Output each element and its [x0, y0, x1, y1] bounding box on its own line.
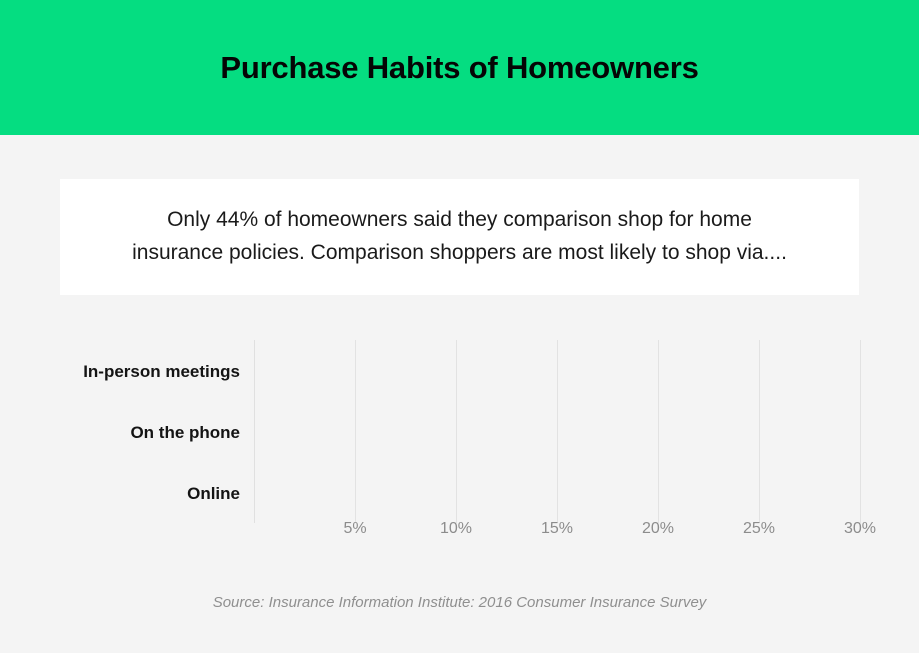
gridline-20	[658, 340, 659, 523]
gridline-25	[759, 340, 760, 523]
bar-chart: In-person meetings On the phone Online 5…	[0, 330, 919, 550]
y-axis-line	[254, 340, 255, 523]
tick-label-15: 15%	[541, 520, 573, 538]
tick-label-30: 30%	[844, 520, 876, 538]
tick-label-25: 25%	[743, 520, 775, 538]
gridline-30	[860, 340, 861, 523]
chart-category-labels: In-person meetings On the phone Online	[0, 340, 240, 523]
category-label-online: Online	[0, 484, 240, 504]
page-title: Purchase Habits of Homeowners	[220, 49, 698, 86]
tick-label-5: 5%	[343, 520, 366, 538]
tick-label-20: 20%	[642, 520, 674, 538]
source-note: Source: Insurance Information Institute:…	[0, 594, 919, 611]
gridline-5	[355, 340, 356, 523]
category-label-on-the-phone: On the phone	[0, 423, 240, 443]
callout-text: Only 44% of homeowners said they compari…	[130, 204, 790, 269]
gridline-15	[557, 340, 558, 523]
callout-card: Only 44% of homeowners said they compari…	[60, 179, 859, 295]
tick-label-10: 10%	[440, 520, 472, 538]
category-label-in-person-meetings: In-person meetings	[0, 362, 240, 382]
chart-plot-area	[254, 340, 860, 523]
gridline-10	[456, 340, 457, 523]
infographic-root: Purchase Habits of Homeowners Only 44% o…	[0, 0, 919, 653]
chart-tick-labels: 5% 10% 15% 20% 25% 30%	[0, 520, 919, 550]
header-banner: Purchase Habits of Homeowners	[0, 0, 919, 135]
